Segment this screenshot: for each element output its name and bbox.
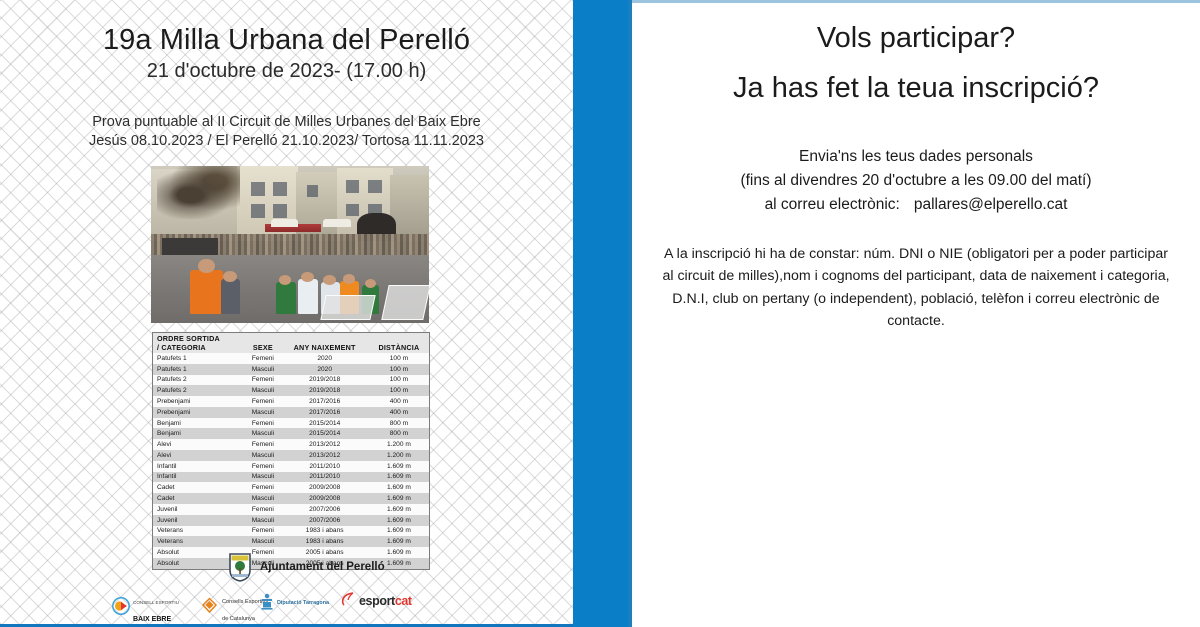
categories-table: ORDRE SORTIDA / CATEGORIA SEXE ANY NAIXE… [152,332,430,570]
table-header-row: ORDRE SORTIDA / CATEGORIA SEXE ANY NAIXE… [153,333,429,353]
send-instructions: Envia'ns les teus dades personals (fins … [632,145,1200,217]
cell-sexe: Masculi [245,472,280,483]
table-row: InfantilFemeni2011/20101.609 m [153,461,429,472]
column-header-distancia: DISTÀNCIA [369,333,429,353]
page-title: 19a Milla Urbana del Perelló [0,24,573,57]
cell-categoria: Alevi [153,439,245,450]
cell-distancia: 1.609 m [369,504,429,515]
cell-categoria: Prebenjami [153,407,245,418]
cell-sexe: Masculi [245,407,280,418]
cell-distancia: 1.609 m [369,536,429,547]
cell-distancia: 100 m [369,353,429,364]
cell-any-naixement: 2015/2014 [281,418,369,429]
coat-of-arms-icon [228,552,252,582]
cell-any-naixement: 2013/2012 [281,439,369,450]
sponsor-logo-esportcat: esportcat [340,591,412,612]
cell-sexe: Femeni [245,461,280,472]
cell-sexe: Femeni [245,396,280,407]
cell-any-naixement: 1983 i abans [281,526,369,537]
cell-any-naixement: 2020 [281,353,369,364]
panel-top-border [632,0,1200,3]
cell-distancia: 800 m [369,428,429,439]
cell-distancia: 1.609 m [369,482,429,493]
cell-distancia: 400 m [369,407,429,418]
consells-esportius-catalunya-icon [200,596,219,620]
cell-any-naixement: 1983 i abans [281,536,369,547]
sponsor-logo-row: CONSELL ESPORTIU BAIX EBRE Consells Espo… [112,589,412,615]
table-row: BenjamiFemeni2015/2014800 m [153,418,429,429]
send-line-3: al correu electrònic:pallares@elperello.… [632,193,1200,217]
cell-categoria: Benjami [153,418,245,429]
esportcat-icon [340,591,356,612]
sponsor-logo-diputacio-tarragona: Diputació Tarragona [260,593,329,615]
column-header-any-naixement: ANY NAIXEMENT [281,333,369,353]
registration-requirements-text: A la inscripció hi ha de constar: núm. D… [662,243,1170,333]
cell-categoria: Cadet [153,482,245,493]
cell-any-naixement: 2019/2018 [281,375,369,386]
cell-sexe: Femeni [245,439,280,450]
cell-categoria: Alevi [153,450,245,461]
cell-distancia: 1.609 m [369,515,429,526]
ajuntament-logo-block: Ajuntament del Perelló [228,552,385,582]
cell-sexe: Femeni [245,375,280,386]
cell-categoria: Patufets 2 [153,385,245,396]
column-header-categoria: ORDRE SORTIDA / CATEGORIA [153,333,245,353]
cell-any-naixement: 2020 [281,364,369,375]
table-row: JuvenilFemeni2007/20061.609 m [153,504,429,515]
cell-categoria: Patufets 1 [153,353,245,364]
table-row: AleviFemeni2013/20121.200 m [153,439,429,450]
cell-sexe: Masculi [245,536,280,547]
cell-sexe: Masculi [245,493,280,504]
diputacio-tarragona-icon [260,593,274,615]
ajuntament-label: Ajuntament del Perelló [260,561,385,573]
cell-categoria: Infantil [153,461,245,472]
email-label: al correu electrònic: [765,196,900,213]
table-row: JuvenilMasculi2007/20061.609 m [153,515,429,526]
table-row: PrebenjamiMasculi2017/2016400 m [153,407,429,418]
sponsor-logo-consells-catalunya: Consells Esportius de Catalunya [200,591,268,624]
cell-distancia: 1.609 m [369,472,429,483]
cell-any-naixement: 2011/2010 [281,472,369,483]
sponsor-label-diputacio: Diputació Tarragona [277,601,329,607]
cell-distancia: 1.200 m [369,439,429,450]
cell-distancia: 1.200 m [369,450,429,461]
cell-distancia: 400 m [369,396,429,407]
cell-sexe: Femeni [245,482,280,493]
cell-sexe: Femeni [245,418,280,429]
cell-any-naixement: 2017/2016 [281,396,369,407]
cell-any-naixement: 2007/2006 [281,504,369,515]
cell-categoria: Benjami [153,428,245,439]
question-line-2: Ja has fet la teua inscripció? [632,72,1200,105]
cell-sexe: Masculi [245,515,280,526]
left-poster: 19a Milla Urbana del Perelló 21 d'octubr… [0,0,573,624]
table-row: VeteransFemeni1983 i abans1.609 m [153,526,429,537]
cell-categoria: Veterans [153,526,245,537]
event-date-time: 21 d'octubre de 2023- (17.00 h) [0,60,573,83]
cell-categoria: Patufets 2 [153,375,245,386]
contact-email[interactable]: pallares@elperello.cat [900,196,1068,213]
right-panel: Vols participar? Ja has fet la teua insc… [632,0,1200,627]
cell-categoria: Veterans [153,536,245,547]
cell-distancia: 1.609 m [369,493,429,504]
table-row: Patufets 2Masculi2019/2018100 m [153,385,429,396]
cell-sexe: Femeni [245,504,280,515]
cell-any-naixement: 2015/2014 [281,428,369,439]
cell-sexe: Femeni [245,353,280,364]
consell-esportiu-baix-ebre-icon [112,597,130,620]
table-row: CadetMasculi2009/20081.609 m [153,493,429,504]
blue-divider-bar [573,0,632,627]
send-line-1: Envia'ns les teus dades personals [632,145,1200,169]
cell-distancia: 800 m [369,418,429,429]
column-header-sexe: SEXE [245,333,280,353]
cell-categoria: Cadet [153,493,245,504]
cell-any-naixement: 2011/2010 [281,461,369,472]
table-row: Patufets 1Femeni2020100 m [153,353,429,364]
sponsor-label-baix-ebre: CONSELL ESPORTIU BAIX EBRE [133,592,179,624]
cell-distancia: 1.609 m [369,526,429,537]
race-photo [151,166,429,323]
table-row: PrebenjamiFemeni2017/2016400 m [153,396,429,407]
cell-sexe: Masculi [245,385,280,396]
cell-sexe: Masculi [245,428,280,439]
cell-any-naixement: 2009/2008 [281,493,369,504]
cell-distancia: 1.609 m [369,461,429,472]
sponsor-logo-baix-ebre: CONSELL ESPORTIU BAIX EBRE [112,592,179,624]
cell-categoria: Patufets 1 [153,364,245,375]
circuit-line-2: Jesús 08.10.2023 / El Perelló 21.10.2023… [0,133,573,149]
cell-any-naixement: 2007/2006 [281,515,369,526]
cell-sexe: Femeni [245,526,280,537]
cell-categoria: Juvenil [153,515,245,526]
table-row: BenjamiMasculi2015/2014800 m [153,428,429,439]
question-line-1: Vols participar? [632,22,1200,55]
cell-distancia: 100 m [369,385,429,396]
cell-categoria: Juvenil [153,504,245,515]
circuit-line-1: Prova puntuable al II Circuit de Milles … [0,114,573,130]
table-row: CadetFemeni2009/20081.609 m [153,482,429,493]
cell-distancia: 100 m [369,364,429,375]
cell-any-naixement: 2017/2016 [281,407,369,418]
cell-any-naixement: 2019/2018 [281,385,369,396]
table-row: Patufets 2Femeni2019/2018100 m [153,375,429,386]
table-row: Patufets 1Masculi2020100 m [153,364,429,375]
cell-distancia: 100 m [369,375,429,386]
cell-any-naixement: 2009/2008 [281,482,369,493]
cell-sexe: Masculi [245,450,280,461]
table-row: AleviMasculi2013/20121.200 m [153,450,429,461]
table-row: InfantilMasculi2011/20101.609 m [153,472,429,483]
send-line-2: (fins al divendres 20 d'octubre a les 09… [632,169,1200,193]
cell-categoria: Prebenjami [153,396,245,407]
poster-screenshot: 19a Milla Urbana del Perelló 21 d'octubr… [0,0,1200,627]
table-row: VeteransMasculi1983 i abans1.609 m [153,536,429,547]
cell-categoria: Infantil [153,472,245,483]
sponsor-label-esportcat: esportcat [359,595,412,608]
cell-sexe: Masculi [245,364,280,375]
cell-any-naixement: 2013/2012 [281,450,369,461]
